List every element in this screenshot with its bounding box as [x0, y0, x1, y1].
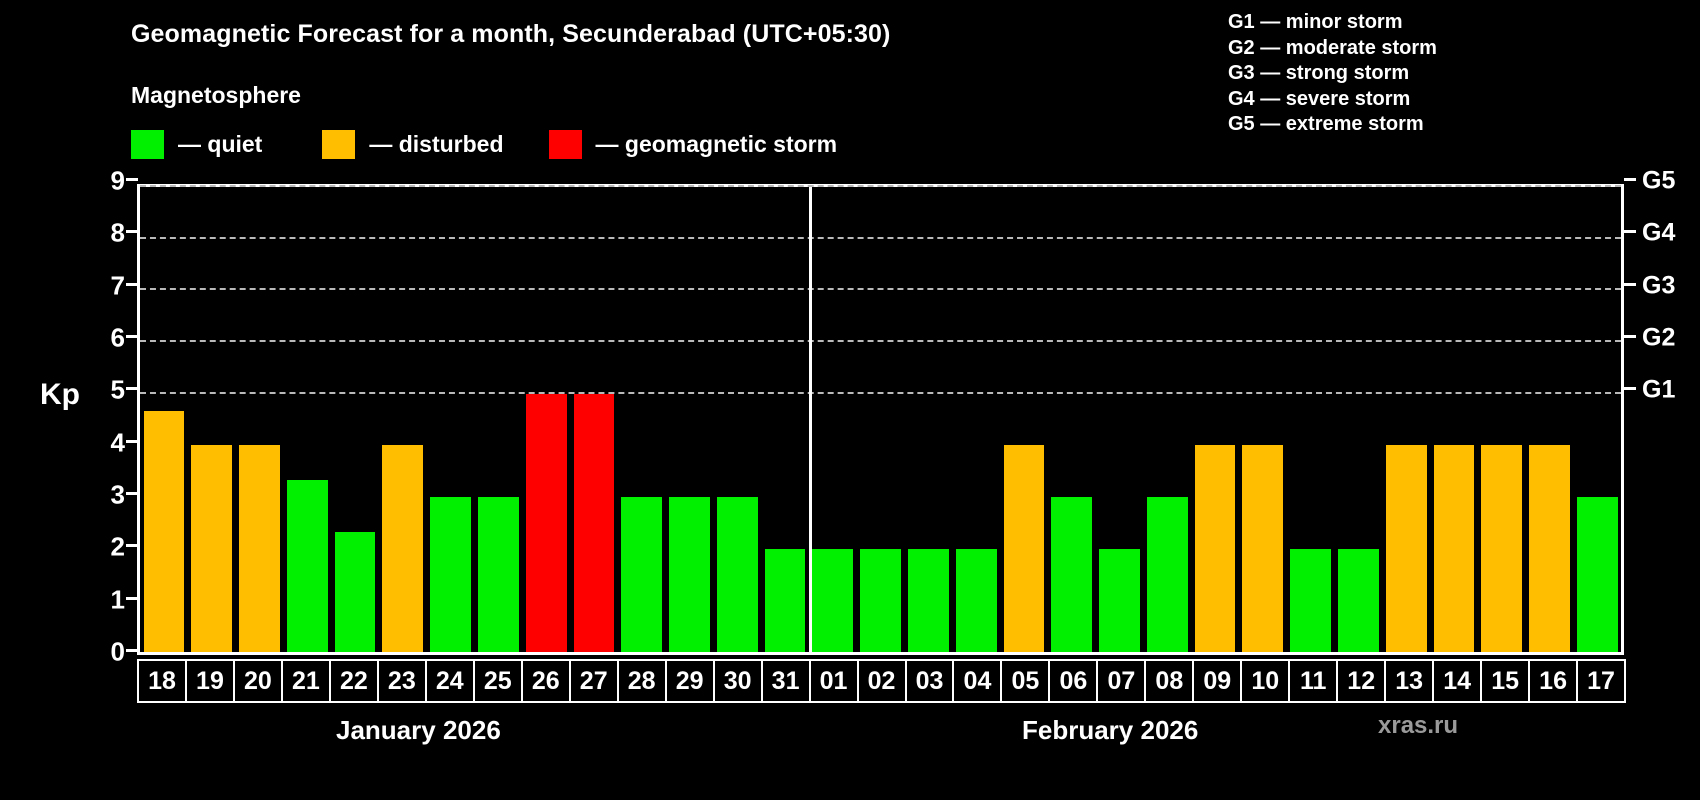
bar-08: [1147, 497, 1188, 652]
y-tick-label-4: 4: [111, 427, 125, 458]
date-cell-14: 14: [1432, 659, 1482, 703]
legend-label-storm: — geomagnetic storm: [596, 131, 838, 158]
bar-13: [1386, 445, 1427, 652]
date-cell-16: 16: [1528, 659, 1578, 703]
date-cell-13: 13: [1384, 659, 1434, 703]
bar-slot: [1096, 187, 1144, 652]
g-tick-label-G3: G3: [1642, 271, 1675, 300]
bar-slot: [857, 187, 905, 652]
date-cell-21: 21: [281, 659, 331, 703]
y-tick-label-2: 2: [111, 532, 125, 563]
bar-29: [669, 497, 710, 652]
bar-slot: [1573, 187, 1621, 652]
bar-23: [382, 445, 423, 652]
g-tick-mark-G1: [1624, 387, 1636, 390]
date-cell-20: 20: [233, 659, 283, 703]
bar-slot: [1000, 187, 1048, 652]
bar-slot: [713, 187, 761, 652]
date-cell-24: 24: [425, 659, 475, 703]
bar-21: [287, 480, 328, 652]
y-axis-title: Kp: [40, 378, 80, 412]
bar-01: [812, 549, 853, 652]
date-cell-28: 28: [617, 659, 667, 703]
bar-27: [574, 394, 615, 652]
legend-swatch-disturbed: [322, 130, 355, 159]
bar-20: [239, 445, 280, 652]
g-tick-mark-G5: [1624, 178, 1636, 181]
date-cell-07: 07: [1096, 659, 1146, 703]
bar-slot: [522, 187, 570, 652]
g-tick-mark-G2: [1624, 335, 1636, 338]
bar-slot: [1430, 187, 1478, 652]
bar-slot: [188, 187, 236, 652]
date-cell-09: 09: [1192, 659, 1242, 703]
bar-slot: [1048, 187, 1096, 652]
gscale-row-2: G2 — moderate storm: [1228, 36, 1437, 62]
date-cell-05: 05: [1000, 659, 1050, 703]
g-scale-axis: G1G2G3G4G5: [1624, 184, 1694, 655]
plot-inner: [140, 187, 1621, 652]
legend-item-storm: — geomagnetic storm: [549, 130, 838, 159]
bar-07: [1099, 549, 1140, 652]
bar-slot: [1382, 187, 1430, 652]
g-tick-label-G2: G2: [1642, 324, 1675, 353]
bar-25: [478, 497, 519, 652]
date-cell-12: 12: [1336, 659, 1386, 703]
bar-slot: [331, 187, 379, 652]
date-cell-23: 23: [377, 659, 427, 703]
bar-slot: [427, 187, 475, 652]
legend-swatch-storm: [549, 130, 582, 159]
bar-slot: [379, 187, 427, 652]
legend: — quiet— disturbed— geomagnetic storm: [131, 129, 837, 159]
date-cell-22: 22: [329, 659, 379, 703]
bar-02: [860, 549, 901, 652]
g-tick-mark-G3: [1624, 283, 1636, 286]
bar-06: [1051, 497, 1092, 652]
bar-slot: [283, 187, 331, 652]
date-cell-18: 18: [137, 659, 187, 703]
bar-slot: [761, 187, 809, 652]
y-tick-label-1: 1: [111, 584, 125, 615]
bar-slot: [570, 187, 618, 652]
bar-30: [717, 497, 758, 652]
bar-slot: [1335, 187, 1383, 652]
legend-item-quiet: — quiet: [131, 130, 262, 159]
bar-17: [1577, 497, 1618, 652]
bar-12: [1338, 549, 1379, 652]
bar-24: [430, 497, 471, 652]
bar-03: [908, 549, 949, 652]
watermark: xras.ru: [1378, 712, 1458, 740]
y-axis-labels: 0123456789: [55, 184, 125, 655]
chart-plot-area: [137, 184, 1624, 655]
g-tick-label-G4: G4: [1642, 219, 1675, 248]
bar-slot: [809, 187, 857, 652]
bar-slot: [1287, 187, 1335, 652]
bar-slot: [474, 187, 522, 652]
gscale-row-3: G3 — strong storm: [1228, 61, 1437, 87]
bar-slot: [140, 187, 188, 652]
legend-label-quiet: — quiet: [178, 131, 262, 158]
date-cell-06: 06: [1048, 659, 1098, 703]
bar-slot: [618, 187, 666, 652]
bar-slot: [905, 187, 953, 652]
date-cell-04: 04: [952, 659, 1002, 703]
date-cell-02: 02: [857, 659, 907, 703]
bar-slot: [952, 187, 1000, 652]
bar-slot: [236, 187, 284, 652]
month-divider: [809, 187, 812, 652]
bar-18: [144, 411, 185, 652]
bar-slot: [1191, 187, 1239, 652]
gscale-row-5: G5 — extreme storm: [1228, 112, 1437, 138]
bar-19: [191, 445, 232, 652]
bar-28: [621, 497, 662, 652]
bar-11: [1290, 549, 1331, 652]
date-cell-11: 11: [1288, 659, 1338, 703]
date-cell-31: 31: [761, 659, 811, 703]
date-cell-15: 15: [1480, 659, 1530, 703]
magnetosphere-heading: Magnetosphere: [131, 82, 301, 109]
legend-label-disturbed: — disturbed: [369, 131, 503, 158]
bar-26: [526, 394, 567, 652]
y-tick-label-8: 8: [111, 218, 125, 249]
bar-31: [765, 549, 806, 652]
date-cell-01: 01: [809, 659, 859, 703]
bar-slot: [1239, 187, 1287, 652]
date-cell-26: 26: [521, 659, 571, 703]
y-tick-label-9: 9: [111, 166, 125, 197]
date-cell-30: 30: [713, 659, 763, 703]
date-cell-29: 29: [665, 659, 715, 703]
legend-item-disturbed: — disturbed: [322, 130, 503, 159]
bar-09: [1195, 445, 1236, 652]
bar-16: [1529, 445, 1570, 652]
bar-slot: [1478, 187, 1526, 652]
date-axis: 1819202122232425262728293031010203040506…: [137, 659, 1624, 703]
date-cell-08: 08: [1144, 659, 1194, 703]
bar-slot: [666, 187, 714, 652]
page-title: Geomagnetic Forecast for a month, Secund…: [131, 20, 890, 49]
y-tick-label-5: 5: [111, 375, 125, 406]
date-cell-19: 19: [185, 659, 235, 703]
bar-22: [335, 532, 376, 652]
date-cell-25: 25: [473, 659, 523, 703]
y-tick-label-0: 0: [111, 637, 125, 668]
g-tick-label-G5: G5: [1642, 167, 1675, 196]
gscale-legend: G1 — minor stormG2 — moderate stormG3 — …: [1228, 10, 1437, 138]
g-tick-label-G1: G1: [1642, 376, 1675, 405]
date-cell-10: 10: [1240, 659, 1290, 703]
bar-04: [956, 549, 997, 652]
g-tick-mark-G4: [1624, 230, 1636, 233]
bar-series: [140, 187, 1621, 652]
y-tick-mark-9: [126, 178, 138, 181]
date-cell-17: 17: [1576, 659, 1626, 703]
bar-slot: [1526, 187, 1574, 652]
bar-10: [1242, 445, 1283, 652]
bar-15: [1481, 445, 1522, 652]
legend-swatch-quiet: [131, 130, 164, 159]
bar-05: [1004, 445, 1045, 652]
y-tick-label-7: 7: [111, 270, 125, 301]
bar-14: [1434, 445, 1475, 652]
month-label-february: February 2026: [1022, 715, 1198, 746]
date-cell-03: 03: [905, 659, 955, 703]
date-cell-27: 27: [569, 659, 619, 703]
y-tick-label-3: 3: [111, 480, 125, 511]
y-tick-label-6: 6: [111, 323, 125, 354]
bar-slot: [1143, 187, 1191, 652]
gscale-row-1: G1 — minor storm: [1228, 10, 1437, 36]
month-label-january: January 2026: [336, 715, 501, 746]
gscale-row-4: G4 — severe storm: [1228, 87, 1437, 113]
